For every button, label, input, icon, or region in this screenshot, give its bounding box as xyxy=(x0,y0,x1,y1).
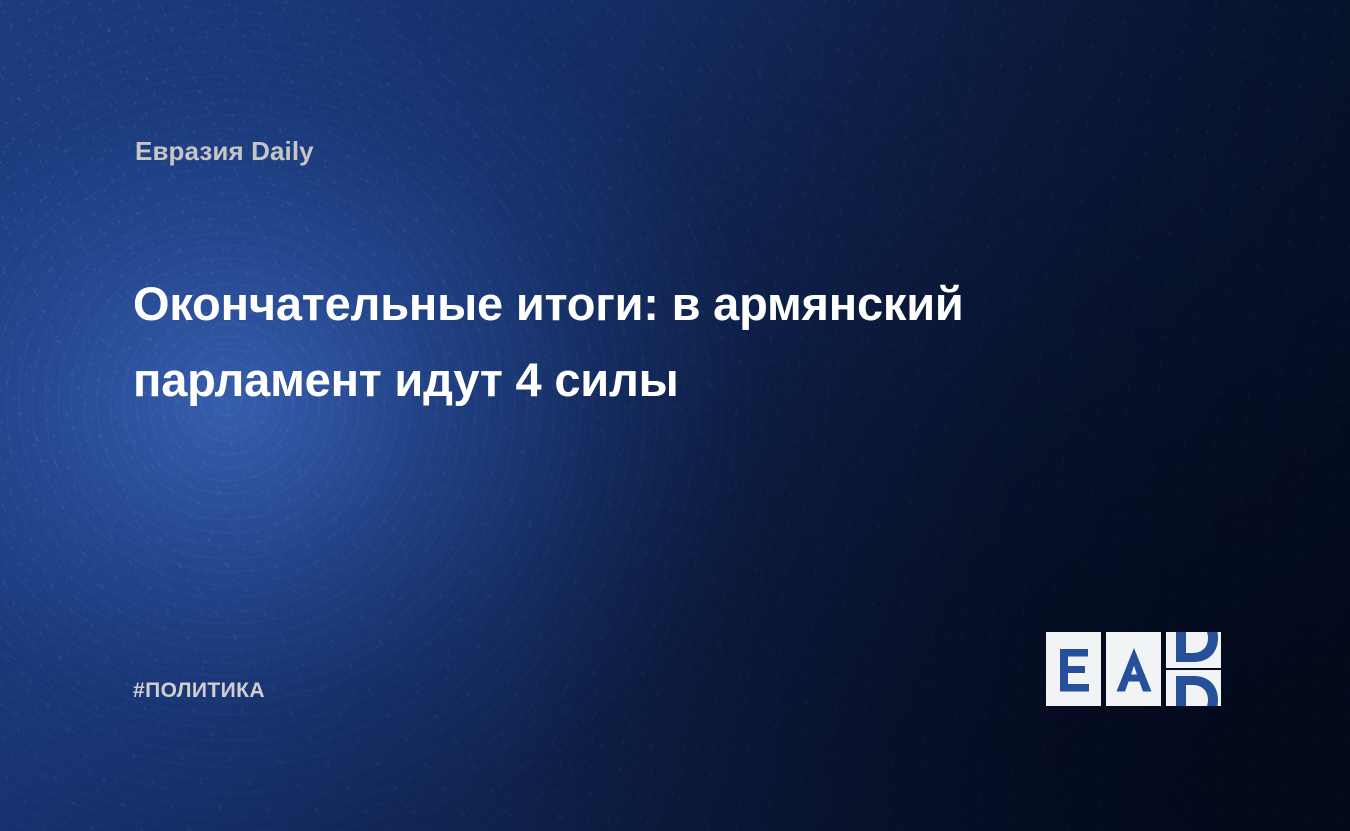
logo-tile-d-lower xyxy=(1166,670,1221,706)
letter-e-icon xyxy=(1057,646,1091,692)
headline: Окончательные итоги: в армянский парламе… xyxy=(133,266,1133,418)
category-hashtag: #ПОЛИТИКА xyxy=(133,679,265,703)
letter-a-icon xyxy=(1115,646,1153,692)
logo-tile-e xyxy=(1046,632,1101,706)
logo-tile-a xyxy=(1106,632,1161,706)
logo-tile-d-upper xyxy=(1166,632,1221,668)
logo-tile-d-stack xyxy=(1166,632,1221,706)
headline-line-2: парламент идут 4 силы xyxy=(133,342,1133,418)
news-share-card: Евразия Daily Окончательные итоги: в арм… xyxy=(0,0,1350,831)
eadaily-logo xyxy=(1046,632,1221,706)
letter-d-lower-icon xyxy=(1166,670,1221,706)
letter-d-upper-icon xyxy=(1166,632,1221,668)
headline-line-1: Окончательные итоги: в армянский xyxy=(133,266,1133,342)
publication-name: Евразия Daily xyxy=(135,136,314,167)
